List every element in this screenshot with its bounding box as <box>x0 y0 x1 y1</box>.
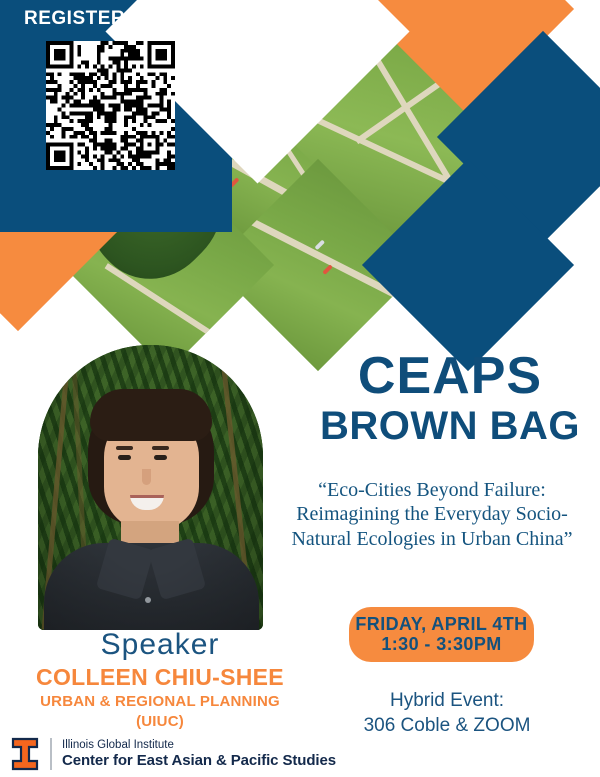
footer-divider <box>50 738 52 770</box>
illinois-block-i-logo <box>10 737 40 771</box>
footer-branding: Illinois Global Institute Center for Eas… <box>10 737 336 771</box>
speaker-heading: Speaker <box>0 628 320 662</box>
speaker-affiliation: (UIUC) <box>0 713 320 731</box>
event-format-label: Hybrid Event: <box>342 688 552 713</box>
event-date: FRIDAY, APRIL 4TH <box>349 614 534 634</box>
event-time: 1:30 - 3:30PM <box>349 634 534 654</box>
page-title-primary: CEAPS <box>300 352 600 402</box>
block-i-icon <box>10 737 40 771</box>
talk-title: “Eco-Cities Beyond Failure: Reimagining … <box>282 478 582 551</box>
footer-institute-name: Illinois Global Institute <box>62 739 336 752</box>
speaker-department: URBAN & REGIONAL PLANNING <box>0 693 320 711</box>
event-poster: REGISTER HERE: Speaker COLLEEN CHIU-SHEE… <box>0 0 600 777</box>
event-location: 306 Coble & ZOOM <box>342 713 552 738</box>
footer-text-block: Illinois Global Institute Center for Eas… <box>62 739 336 770</box>
qr-code-canvas[interactable] <box>46 41 175 170</box>
event-location-block: Hybrid Event: 306 Coble & ZOOM <box>342 688 552 739</box>
footer-center-name: Center for East Asian & Pacific Studies <box>62 752 336 769</box>
register-here-label: REGISTER HERE: <box>24 8 193 30</box>
page-title-secondary: BROWN BAG <box>300 406 600 446</box>
date-time-badge: FRIDAY, APRIL 4TH 1:30 - 3:30PM <box>349 607 534 662</box>
speaker-portrait <box>38 345 263 630</box>
qr-code-icon[interactable] <box>46 41 175 170</box>
speaker-info-block: Speaker COLLEEN CHIU-SHEE URBAN & REGION… <box>0 628 320 730</box>
speaker-name: COLLEEN CHIU-SHEE <box>0 664 320 691</box>
